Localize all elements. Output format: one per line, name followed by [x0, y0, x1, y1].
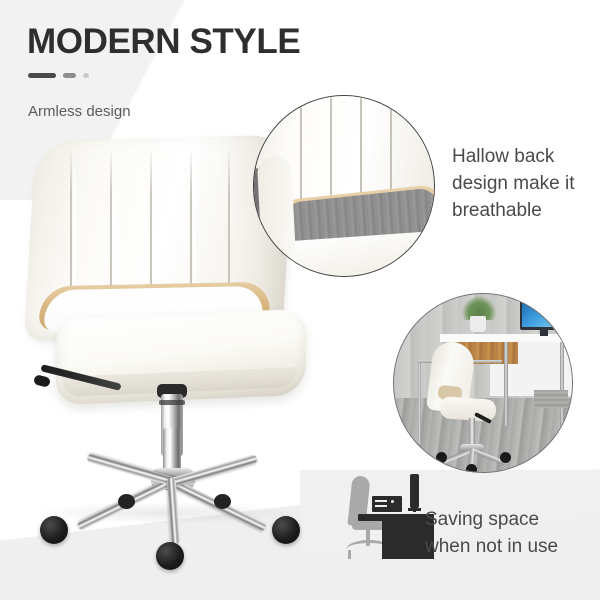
scene-desk-top	[440, 334, 573, 342]
scene-chair-cylinder	[469, 418, 475, 446]
icon-chair-leg	[348, 550, 351, 559]
divider-dot-small	[83, 73, 89, 78]
scene-plant-pot	[470, 316, 486, 332]
divider-dash-medium	[63, 73, 76, 78]
scene-storage-boxes	[534, 390, 568, 408]
closeup-side-panel	[257, 155, 298, 277]
page-title: MODERN STYLE	[27, 20, 300, 64]
caster-small	[214, 494, 231, 509]
caster-wheel	[156, 542, 184, 570]
callout-text-line: breathable	[452, 197, 600, 224]
callout-image-desk-scene	[393, 293, 573, 473]
scene-chair-frame-leg	[418, 360, 421, 444]
icon-pc-tower	[372, 496, 402, 512]
icon-monitor-stand	[408, 508, 421, 511]
caster-wheel	[40, 516, 68, 544]
lever-knob	[33, 374, 51, 388]
callout-text-saving-space: Saving space when not in use	[425, 506, 600, 560]
icon-pc-tower-slot	[375, 500, 387, 502]
callout-text-line: Saving space	[425, 506, 600, 533]
divider-dash-large	[28, 73, 56, 78]
closeup-tufting-channel	[390, 98, 392, 202]
callout-image-hollow-back	[253, 95, 435, 277]
closeup-tufting-channel	[330, 98, 332, 202]
scene-caster	[500, 452, 511, 463]
closeup-tufting-channel	[360, 98, 362, 202]
icon-pc-tower-light	[391, 500, 394, 503]
callout-text-hollow-back: Hallow back design make it breathable	[452, 143, 600, 224]
caster-small	[118, 494, 135, 509]
callout-text-line: Hallow back	[452, 143, 600, 170]
page-subtitle: Armless design	[28, 102, 131, 122]
scene-desk-leg	[560, 342, 564, 426]
callout-text-line: when not in use	[425, 533, 600, 560]
gas-cylinder-ring	[159, 400, 185, 405]
icon-pc-tower-slot	[375, 505, 387, 507]
callout-text-line: design make it	[452, 170, 600, 197]
icon-monitor	[410, 474, 419, 508]
icon-desk-top	[358, 514, 434, 521]
three-dash-divider-icon	[28, 73, 89, 78]
scene-monitor-screen	[522, 302, 566, 327]
closeup-tufting-channel	[300, 98, 302, 202]
scene-caster	[436, 452, 447, 463]
scene-desk-leg	[504, 342, 508, 426]
scene-caster	[466, 464, 477, 473]
infographic-canvas: MODERN STYLE Armless design	[0, 0, 600, 600]
caster-wheel	[272, 516, 300, 544]
scene-monitor-stand	[540, 329, 548, 336]
